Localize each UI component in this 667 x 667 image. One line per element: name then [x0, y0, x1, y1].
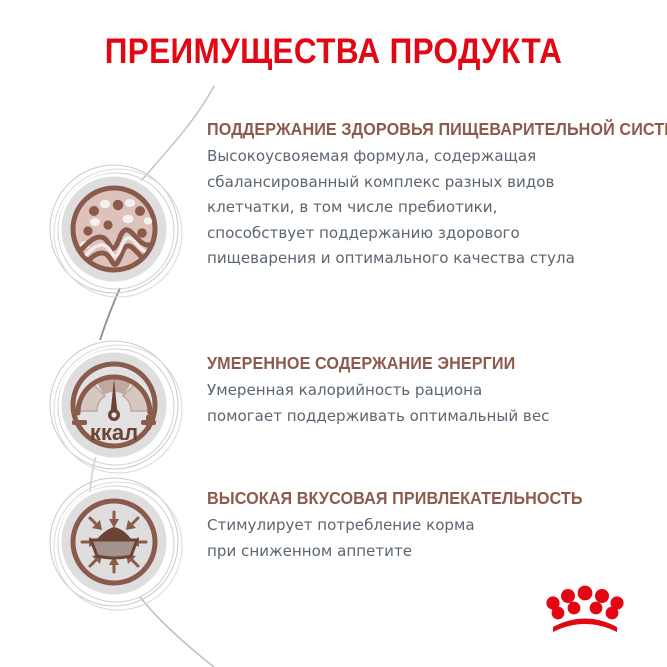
- benefit-heading: УМЕРЕННОЕ СОДЕРЖАНИЕ ЭНЕРГИИ: [207, 352, 598, 374]
- digestive-health-icon: [48, 163, 184, 299]
- benefit-body: Стимулирует потребление корма при снижен…: [207, 513, 627, 564]
- benefit-text-moderate-energy: УМЕРЕННОЕ СОДЕРЖАНИЕ ЭНЕРГИИ Умеренная к…: [207, 352, 627, 429]
- page-title: ПРЕИМУЩЕСТВА ПРОДУКТА: [33, 34, 633, 71]
- benefit-body: Высокоусвояемая формула, содержащая сбал…: [207, 144, 627, 272]
- benefit-body: Умеренная калорийность рациона помогает …: [207, 378, 627, 429]
- benefit-text-palatability: ВЫСОКАЯ ВКУСОВАЯ ПРИВЛЕКАТЕЛЬНОСТЬ Стиму…: [207, 487, 627, 564]
- royal-canin-crown-logo: [543, 583, 627, 633]
- benefit-heading: ПОДДЕРЖАНИЕ ЗДОРОВЬЯ ПИЩЕВАРИТЕЛЬНОЙ СИС…: [207, 118, 598, 140]
- gauge-label: ккал: [90, 420, 138, 445]
- food-bowl-palatability-icon: [48, 476, 184, 612]
- product-benefits-page: ПРЕИМУЩЕСТВА ПРОДУКТА: [0, 0, 667, 667]
- benefit-text-digestive-health: ПОДДЕРЖАНИЕ ЗДОРОВЬЯ ПИЩЕВАРИТЕЛЬНОЙ СИС…: [207, 118, 627, 272]
- calorie-gauge-icon: ккал: [48, 339, 184, 475]
- benefit-heading: ВЫСОКАЯ ВКУСОВАЯ ПРИВЛЕКАТЕЛЬНОСТЬ: [207, 487, 598, 509]
